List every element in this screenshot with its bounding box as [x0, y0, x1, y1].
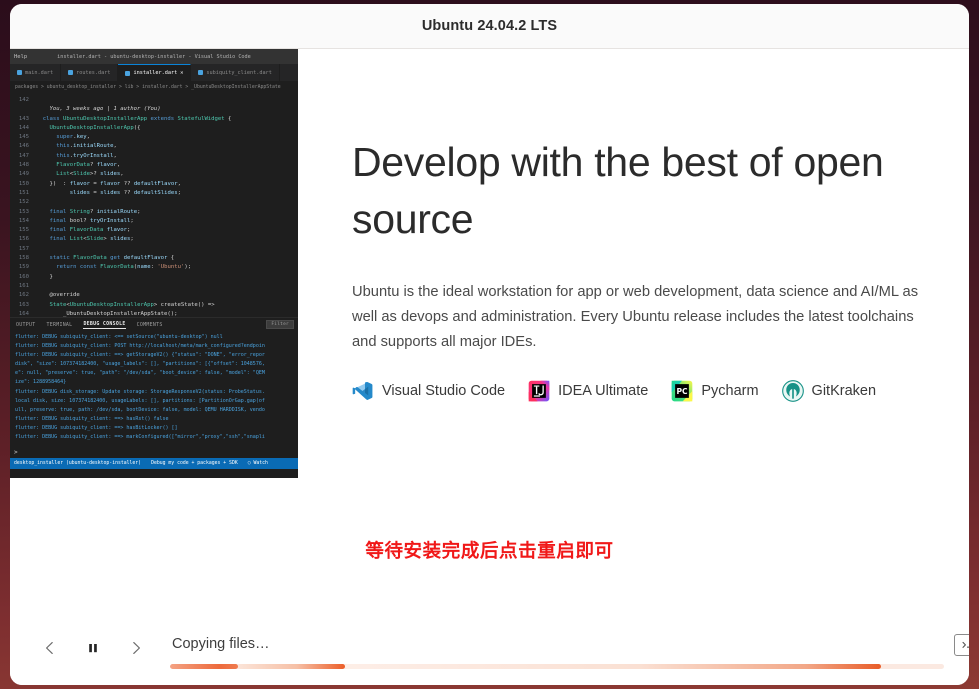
- code-line: 146 this.initialRoute,: [10, 142, 298, 151]
- code-line: 157: [10, 245, 298, 254]
- svg-text:PC: PC: [677, 387, 689, 396]
- progress-segment: [345, 664, 881, 669]
- code-line-text: final List<Slide> slides;: [36, 235, 134, 244]
- slide-heading: Develop with the best of open source: [352, 134, 932, 248]
- vscode-window-title: installer.dart - ubuntu-desktop-installe…: [10, 54, 298, 60]
- code-line-number: 153: [10, 208, 36, 217]
- code-line: 160 }: [10, 273, 298, 282]
- console-line: local disk, size: 107374182400, usageLab…: [15, 397, 293, 406]
- code-line-number: 150: [10, 180, 36, 189]
- vscode-tab: main.dart: [10, 64, 61, 81]
- dart-file-icon: [198, 70, 203, 75]
- pycharm-icon: PC: [671, 380, 693, 402]
- vscode-console-prompt: >: [10, 449, 298, 458]
- vscode-tab: routes.dart: [61, 64, 118, 81]
- console-line: flutter: DEBUG subiquity_client: <== set…: [15, 333, 293, 342]
- console-line: flutter: DEBUG subiquity_client: POST ht…: [15, 342, 293, 351]
- code-line: 152: [10, 198, 298, 207]
- app-label: Visual Studio Code: [382, 383, 505, 399]
- code-line-number: 162: [10, 291, 36, 300]
- panel-tab-terminal: TERMINAL: [46, 322, 72, 328]
- previous-slide-button[interactable]: [36, 634, 63, 661]
- app-item-idea-ultimate: IDEA Ultimate: [528, 380, 648, 402]
- code-line-text: this.initialRoute,: [36, 142, 117, 151]
- vscode-debug-console: flutter: DEBUG subiquity_client: <== set…: [10, 331, 298, 449]
- pause-slideshow-button[interactable]: [79, 634, 106, 661]
- code-line: 164 _UbuntuDesktopInstallerAppState();: [10, 310, 298, 317]
- code-line-number: 149: [10, 170, 36, 179]
- code-line-text: UbuntuDesktopInstallerApp({: [36, 124, 140, 133]
- app-item-gitkraken: GitKraken: [782, 380, 876, 402]
- slide-body: Help installer.dart - ubuntu-desktop-ins…: [10, 49, 969, 615]
- vscode-screenshot-image: Help installer.dart - ubuntu-desktop-ins…: [10, 49, 298, 478]
- next-slide-button[interactable]: [122, 634, 149, 661]
- intellij-idea-icon: [528, 380, 550, 402]
- code-line: 151 slides = slides ?? defaultSlides;: [10, 189, 298, 198]
- installer-control-bar: Copying files…: [10, 615, 969, 685]
- code-line: 147 this.tryOrInstall,: [10, 152, 298, 161]
- code-line-text: class UbuntuDesktopInstallerApp extends …: [36, 115, 231, 124]
- code-line: 142: [10, 96, 298, 105]
- code-line-number: 157: [10, 245, 36, 254]
- code-line-number: 142: [10, 96, 36, 105]
- vscode-tab-label: main.dart: [25, 70, 53, 76]
- status-item-project: desktop_installer (ubuntu-desktop-instal…: [14, 461, 141, 466]
- app-label: Pycharm: [701, 383, 758, 399]
- console-line: disk", "size": 107374182400, "usage_labe…: [15, 360, 293, 369]
- terminal-toggle-button[interactable]: [954, 634, 969, 656]
- vscode-tab-label: routes.dart: [76, 70, 110, 76]
- app-logo-list: Visual Studio Code: [352, 380, 932, 402]
- code-line: You, 3 weeks ago | 1 author (You): [10, 105, 298, 114]
- code-line-number: 152: [10, 198, 36, 207]
- code-line-number: 146: [10, 142, 36, 151]
- code-line-number: 155: [10, 226, 36, 235]
- console-line: flutter: DEBUG subiquity_client: ==> mar…: [15, 433, 293, 442]
- dart-file-icon: [125, 71, 130, 76]
- code-line: 143 class UbuntuDesktopInstallerApp exte…: [10, 115, 298, 124]
- console-line: ull, preserve: true, path: /dev/sda, boo…: [15, 406, 293, 415]
- code-line-text: }: [36, 273, 53, 282]
- code-line: 149 List<Slide>? slides,: [10, 170, 298, 179]
- panel-filter-input: Filter: [266, 320, 294, 329]
- code-line-text: return const FlavorData(name: 'Ubuntu');: [36, 263, 191, 272]
- code-line-number: [10, 105, 36, 114]
- installer-window: Ubuntu 24.04.2 LTS Help installer.dart -…: [10, 4, 969, 685]
- console-line: e": null, "preserve": true, "path": "/de…: [15, 369, 293, 378]
- code-line-number: 143: [10, 115, 36, 124]
- gitkraken-icon: [782, 380, 804, 402]
- dart-file-icon: [68, 70, 73, 75]
- install-progress-bar: [170, 664, 944, 669]
- code-line: 144 UbuntuDesktopInstallerApp({: [10, 124, 298, 133]
- status-item-watch: ○ Watch: [248, 461, 268, 466]
- code-line-text: @override: [36, 291, 80, 300]
- code-line-text: super.key,: [36, 133, 90, 142]
- app-label: GitKraken: [812, 383, 876, 399]
- code-line-number: 156: [10, 235, 36, 244]
- code-line: 161: [10, 282, 298, 291]
- app-label: IDEA Ultimate: [558, 383, 648, 399]
- code-line-number: 164: [10, 310, 36, 317]
- code-line: 153 final String? initialRoute;: [10, 208, 298, 217]
- progress-segment: [170, 664, 238, 669]
- code-line: 163 State<UbuntuDesktopInstallerApp> cre…: [10, 301, 298, 310]
- vscode-tab-bar: main.dart routes.dart installer.dart ✕ s…: [10, 64, 298, 81]
- code-line-number: 158: [10, 254, 36, 263]
- code-line-text: List<Slide>? slides,: [36, 170, 124, 179]
- code-line-number: 147: [10, 152, 36, 161]
- code-line-number: 163: [10, 301, 36, 310]
- code-line-number: 159: [10, 263, 36, 272]
- window-titlebar: Ubuntu 24.04.2 LTS: [10, 4, 969, 49]
- code-line-text: final FlavorData flavor;: [36, 226, 130, 235]
- code-line-text: static FlavorData get defaultFlavor {: [36, 254, 174, 263]
- console-line: flutter: DEBUG subiquity_client: ==> has…: [15, 424, 293, 433]
- code-line-text: FlavorData? flavor,: [36, 161, 120, 170]
- console-line: flutter: DEBUG disk_storage: Update stor…: [15, 388, 293, 397]
- code-line: 162 @override: [10, 291, 298, 300]
- panel-tab-output: OUTPUT: [16, 322, 35, 328]
- app-item-pycharm: PC Pycharm: [671, 380, 758, 402]
- vscode-tab-label: installer.dart: [133, 70, 177, 76]
- code-line-number: 160: [10, 273, 36, 282]
- console-line: ize": 1288958464}: [15, 378, 293, 387]
- install-status-text: Copying files…: [170, 634, 944, 654]
- code-line-number: 161: [10, 282, 36, 291]
- code-line-number: 151: [10, 189, 36, 198]
- vscode-code-area: 142 You, 3 weeks ago | 1 author (You)143…: [10, 94, 298, 317]
- vscode-menubar: Help installer.dart - ubuntu-desktop-ins…: [10, 49, 298, 64]
- code-line-text: final bool? tryOrInstall;: [36, 217, 134, 226]
- code-line: 148 FlavorData? flavor,: [10, 161, 298, 170]
- vscode-panel-tabs: OUTPUT TERMINAL DEBUG CONSOLE COMMENTS F…: [10, 317, 298, 331]
- window-title: Ubuntu 24.04.2 LTS: [422, 18, 557, 34]
- vscode-tab-active: installer.dart ✕: [118, 64, 191, 81]
- slide-paragraph: Ubuntu is the ideal workstation for app …: [352, 280, 925, 355]
- progress-segment: [238, 664, 345, 669]
- vscode-status-bar: desktop_installer (ubuntu-desktop-instal…: [10, 458, 298, 469]
- code-line-text: slides = slides ?? defaultSlides;: [36, 189, 181, 198]
- console-line: flutter: DEBUG subiquity_client: ==> has…: [15, 415, 293, 424]
- console-line: flutter: DEBUG subiquity_client: ==> get…: [15, 351, 293, 360]
- vscode-icon: [352, 380, 374, 402]
- code-line-text: State<UbuntuDesktopInstallerApp> createS…: [36, 301, 215, 310]
- code-line-text: this.tryOrInstall,: [36, 152, 117, 161]
- code-line-number: 154: [10, 217, 36, 226]
- code-line: 158 static FlavorData get defaultFlavor …: [10, 254, 298, 263]
- red-annotation-text: 等待安装完成后点击重启即可: [10, 537, 969, 563]
- slide-navigation-buttons: [36, 634, 149, 661]
- code-line: 154 final bool? tryOrInstall;: [10, 217, 298, 226]
- install-status-block: Copying files…: [170, 634, 954, 669]
- vscode-tab: subiquity_client.dart: [191, 64, 280, 81]
- code-line-text: _UbuntuDesktopInstallerAppState();: [36, 310, 178, 317]
- code-line: 150 }) : flavor = flavor ?? defaultFlavo…: [10, 180, 298, 189]
- code-line-text: You, 3 weeks ago | 1 author (You): [36, 105, 161, 114]
- code-line-number: 144: [10, 124, 36, 133]
- vscode-tab-close-icon: ✕: [180, 70, 183, 76]
- vscode-breadcrumb: packages > ubuntu_desktop_installer > li…: [10, 81, 298, 94]
- status-item-debug-config: Debug my code + packages + SDK: [151, 461, 238, 466]
- slide-text-column: Develop with the best of open source Ubu…: [352, 134, 932, 402]
- code-line: 159 return const FlavorData(name: 'Ubunt…: [10, 263, 298, 272]
- code-line: 156 final List<Slide> slides;: [10, 235, 298, 244]
- vscode-tab-label: subiquity_client.dart: [206, 70, 272, 76]
- code-line-number: 148: [10, 161, 36, 170]
- code-line-text: }) : flavor = flavor ?? defaultFlavor,: [36, 180, 181, 189]
- code-line-text: final String? initialRoute;: [36, 208, 140, 217]
- panel-tab-debug-console: DEBUG CONSOLE: [83, 321, 125, 329]
- app-item-visual-studio-code: Visual Studio Code: [352, 380, 505, 402]
- dart-file-icon: [17, 70, 22, 75]
- panel-tab-comments: COMMENTS: [137, 322, 163, 328]
- code-line: 155 final FlavorData flavor;: [10, 226, 298, 235]
- code-line-number: 145: [10, 133, 36, 142]
- code-line: 145 super.key,: [10, 133, 298, 142]
